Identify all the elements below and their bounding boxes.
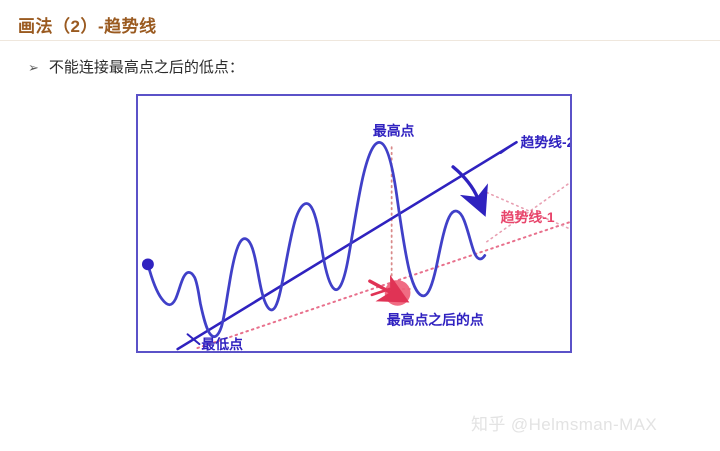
bullet-text: 不能连接最高点之后的低点：: [49, 58, 244, 78]
label-decor-dotted-a: [487, 192, 570, 228]
label-trendline-2: 趋势线-2: [520, 134, 570, 150]
chart-frame: 最高点 趋势线-2 趋势线-1 最高点之后的点 最低点: [136, 94, 572, 353]
label-point-after-highest: 最高点之后的点: [387, 311, 484, 327]
watermark: 知乎 @Helmsman-MAX: [471, 410, 657, 435]
page-title: 画法（2）-趋势线: [18, 12, 157, 37]
label-highest-point: 最高点: [373, 122, 415, 138]
trendline-diagram: 最高点 趋势线-2 趋势线-1 最高点之后的点 最低点: [138, 96, 570, 351]
title-divider: [0, 40, 720, 41]
start-dot-icon: [142, 258, 154, 270]
trendline-2-leader: [501, 143, 515, 153]
blue-down-arrow-icon: [453, 167, 478, 199]
bullet-row: ➢ 不能连接最高点之后的低点：: [28, 58, 244, 78]
label-lowest-point: 最低点: [201, 336, 243, 351]
label-decor-dotted-b: [487, 183, 570, 242]
label-trendline-1: 趋势线-1: [501, 209, 555, 225]
trendline-1-dotted: [197, 222, 570, 348]
trendline-2-solid: [178, 142, 517, 349]
bullet-arrow-icon: ➢: [28, 58, 39, 78]
